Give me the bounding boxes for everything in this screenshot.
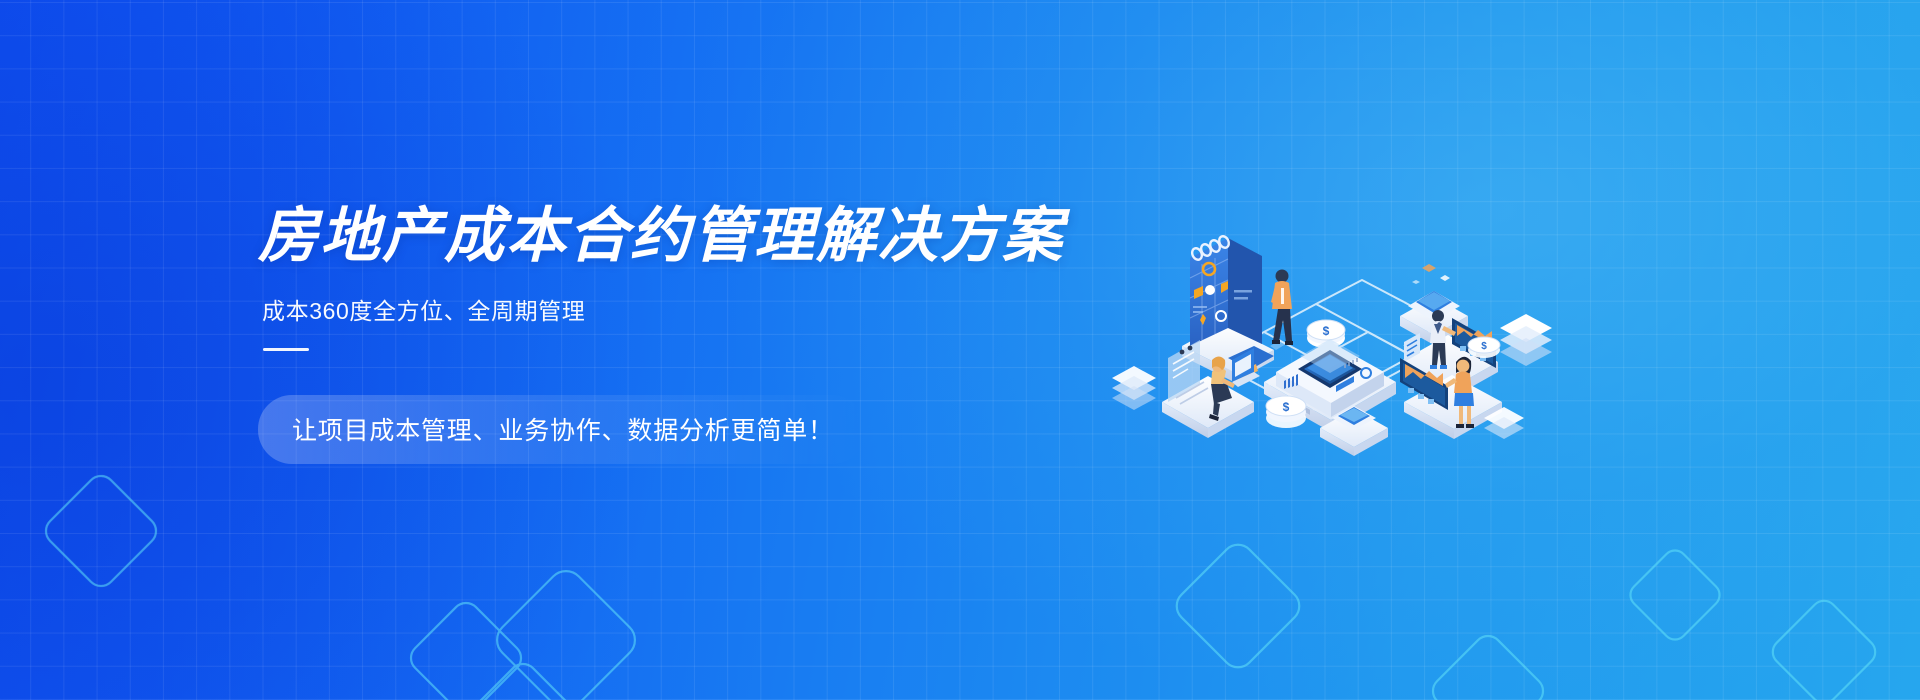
head <box>1457 360 1470 373</box>
hero-banner: 房地产成本合约管理解决方案 成本360度全方位、全周期管理 让项目成本管理、业务… <box>0 0 1920 700</box>
head <box>1276 270 1289 283</box>
title-divider <box>263 348 309 351</box>
diamond-icon <box>1767 595 1880 700</box>
isometric-illustration: $ <box>1104 150 1564 450</box>
diamond-icon <box>405 597 527 700</box>
dollar-icon: $ <box>1283 400 1290 414</box>
hero-copy: 房地产成本合约管理解决方案 成本360度全方位、全周期管理 让项目成本管理、业务… <box>258 206 998 464</box>
gear-icon <box>1205 285 1215 295</box>
hero-tagline-pill: 让项目成本管理、业务协作、数据分析更简单！ <box>258 395 866 464</box>
diamond-icon <box>490 564 643 700</box>
floating-plate-stack <box>1112 366 1156 410</box>
dollar-icon: $ <box>1323 324 1330 338</box>
floating-particles <box>1412 264 1450 284</box>
head <box>1432 310 1444 322</box>
diamond-icon <box>40 470 162 592</box>
floating-plate-stack-right <box>1500 314 1552 366</box>
diamond-icon <box>1170 538 1306 674</box>
diamond-icon <box>462 658 584 700</box>
hero-subtitle: 成本360度全方位、全周期管理 <box>262 298 998 326</box>
coin-dollar-single: $ <box>1468 337 1500 358</box>
page-title: 房地产成本合约管理解决方案 <box>258 206 998 266</box>
dollar-icon: $ <box>1481 341 1487 352</box>
diamond-icon <box>1427 630 1549 700</box>
coin-dollar-stack-lower: $ <box>1266 396 1306 428</box>
diamond-icon <box>1626 546 1725 645</box>
